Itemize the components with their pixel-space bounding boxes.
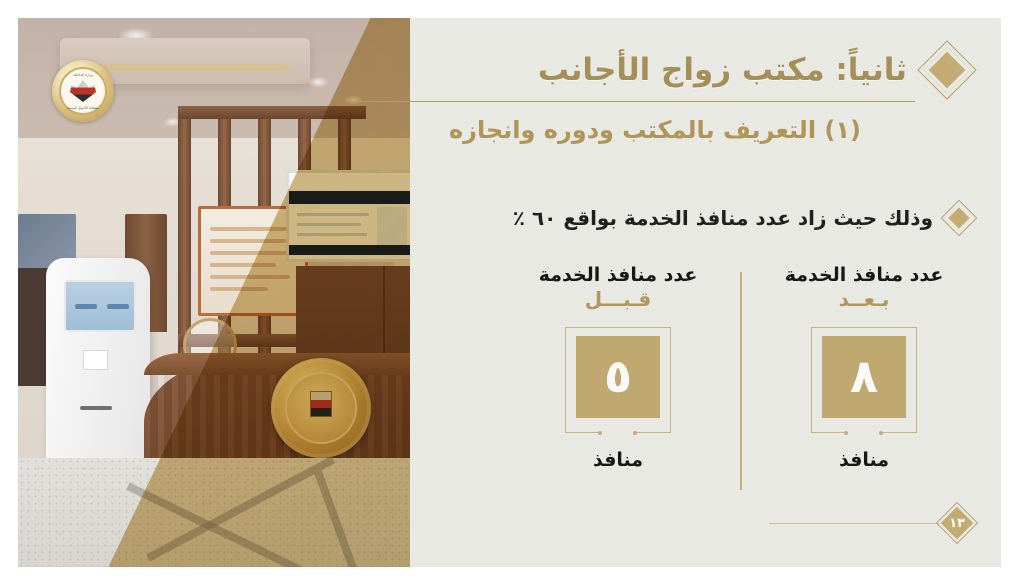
page-number: ١٣ (949, 516, 965, 531)
slide-root: وزارة الداخلية مصلحة الأحوال المدنية ثان… (0, 0, 1019, 585)
emblem-top-text: وزارة الداخلية (61, 73, 105, 77)
page-title: ثانياً: مكتب زواج الأجانب (538, 52, 907, 88)
stat-value: ٨ (850, 353, 878, 399)
stat-box-fill: ٨ (822, 336, 906, 418)
page-badge-line (769, 523, 939, 524)
stat-card-after: عدد منافذ الخدمة بـعــد ٨ منافذ (741, 264, 987, 494)
photo-kiosk-screen (64, 280, 136, 332)
diamond-ornament-icon (917, 40, 977, 100)
photo-kiosk-label (83, 350, 108, 370)
stat-card-before: عدد منافذ الخدمة قـبـــل ٥ منافذ (495, 264, 741, 494)
stat-value-box: ٥ (565, 327, 671, 433)
stat-unit: منافذ (593, 449, 643, 471)
stat-value: ٥ (604, 353, 632, 399)
stat-value-box: ٨ (811, 327, 917, 433)
stat-label: عدد منافذ الخدمة (539, 264, 698, 286)
photo-kiosk-slot (80, 406, 112, 410)
stat-label: عدد منافذ الخدمة (785, 264, 944, 286)
page-number-badge: ١٣ (935, 501, 979, 545)
photo-ceiling-gold-trim (76, 64, 290, 71)
stats-divider (740, 272, 742, 490)
ministry-emblem-logo: وزارة الداخلية مصلحة الأحوال المدنية (52, 60, 114, 122)
growth-note: وذلك حيث زاد عدد منافذ الخدمة بواقع ٦٠ ٪ (513, 206, 933, 230)
stat-phase: بـعــد (839, 287, 890, 311)
stat-phase: قـبـــل (585, 287, 651, 311)
diamond-bullet-icon (941, 200, 977, 236)
emblem-bottom-text: مصلحة الأحوال المدنية (61, 106, 105, 110)
page-subtitle: (١) التعريف بالمكتب ودوره وانجازه (405, 116, 905, 144)
slide-stage: وزارة الداخلية مصلحة الأحوال المدنية ثان… (18, 18, 1001, 567)
stat-unit: منافذ (839, 449, 889, 471)
title-underline-rule (345, 101, 915, 102)
note-row: وذلك حيث زاد عدد منافذ الخدمة بواقع ٦٠ ٪ (377, 200, 977, 236)
title-row: ثانياً: مكتب زواج الأجانب (377, 40, 977, 100)
eagle-icon (70, 80, 96, 102)
stat-box-fill: ٥ (576, 336, 660, 418)
